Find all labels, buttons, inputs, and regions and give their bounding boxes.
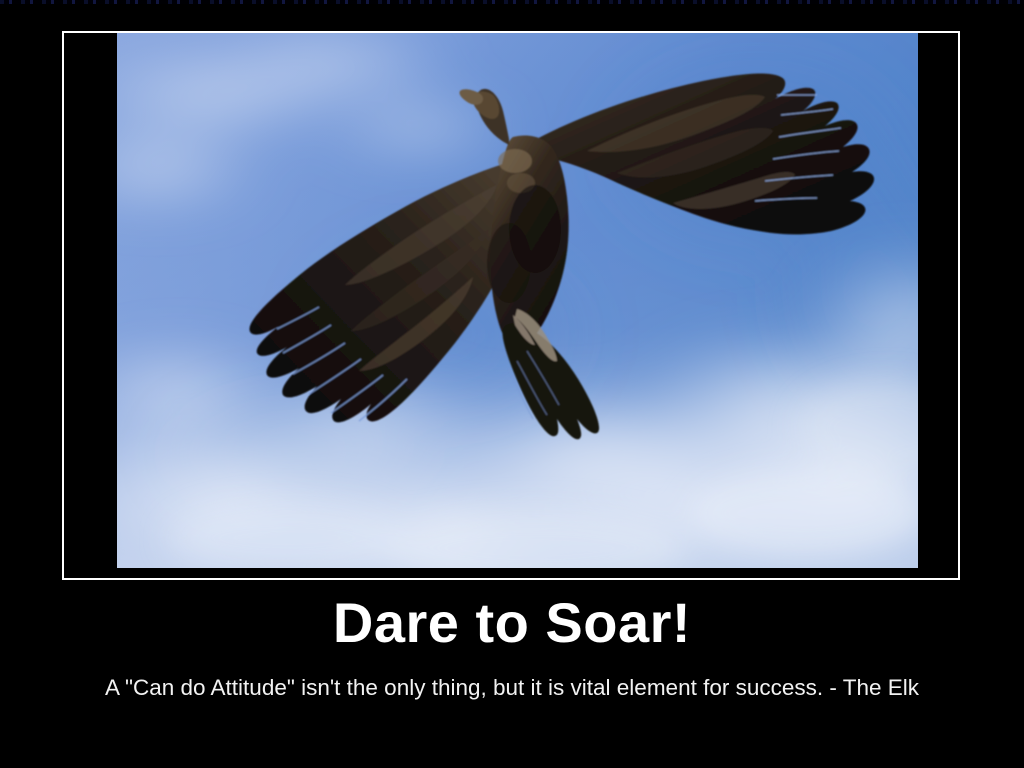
eagle-photograph bbox=[117, 33, 918, 568]
body-lower-shadow bbox=[487, 223, 531, 303]
top-edge-artifact bbox=[0, 0, 1024, 4]
motivational-poster: Dare to Soar! A "Can do Attitude" isn't … bbox=[0, 0, 1024, 768]
nape-patch bbox=[498, 149, 532, 173]
eagle-photo-illustration bbox=[117, 33, 918, 568]
poster-subtitle: A "Can do Attitude" isn't the only thing… bbox=[0, 654, 1024, 702]
caption-block: Dare to Soar! A "Can do Attitude" isn't … bbox=[0, 592, 1024, 702]
poster-title: Dare to Soar! bbox=[0, 592, 1024, 654]
